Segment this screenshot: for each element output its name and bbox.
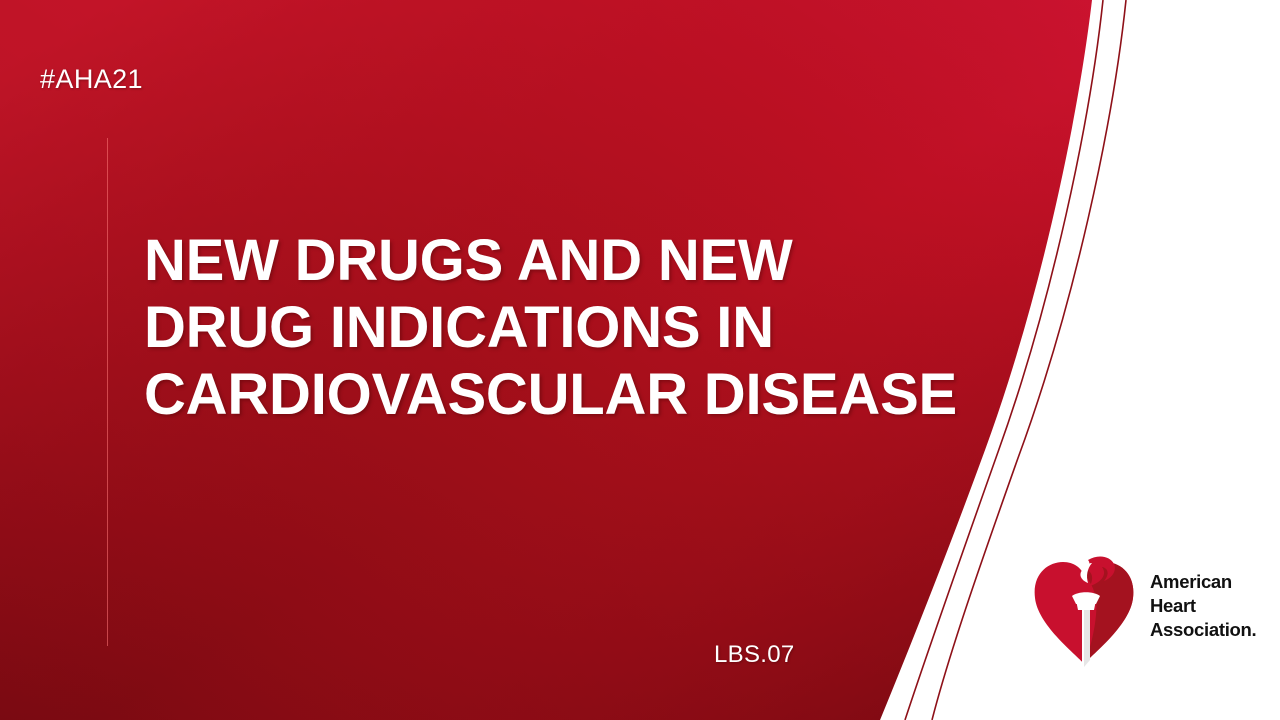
american-heart-association-logo: American Heart Association. [1032,556,1247,668]
session-code: LBS.07 [714,641,795,669]
logo-wordmark: American Heart Association. [1150,570,1256,642]
event-hashtag: #AHA21 [40,64,143,95]
heart-with-torch-icon [1032,556,1136,668]
page-title: New Drugs and New Drug Indications in Ca… [144,227,1004,428]
title-slide: #AHA21 New Drugs and New Drug Indication… [0,0,1280,720]
left-vertical-divider [107,138,108,646]
